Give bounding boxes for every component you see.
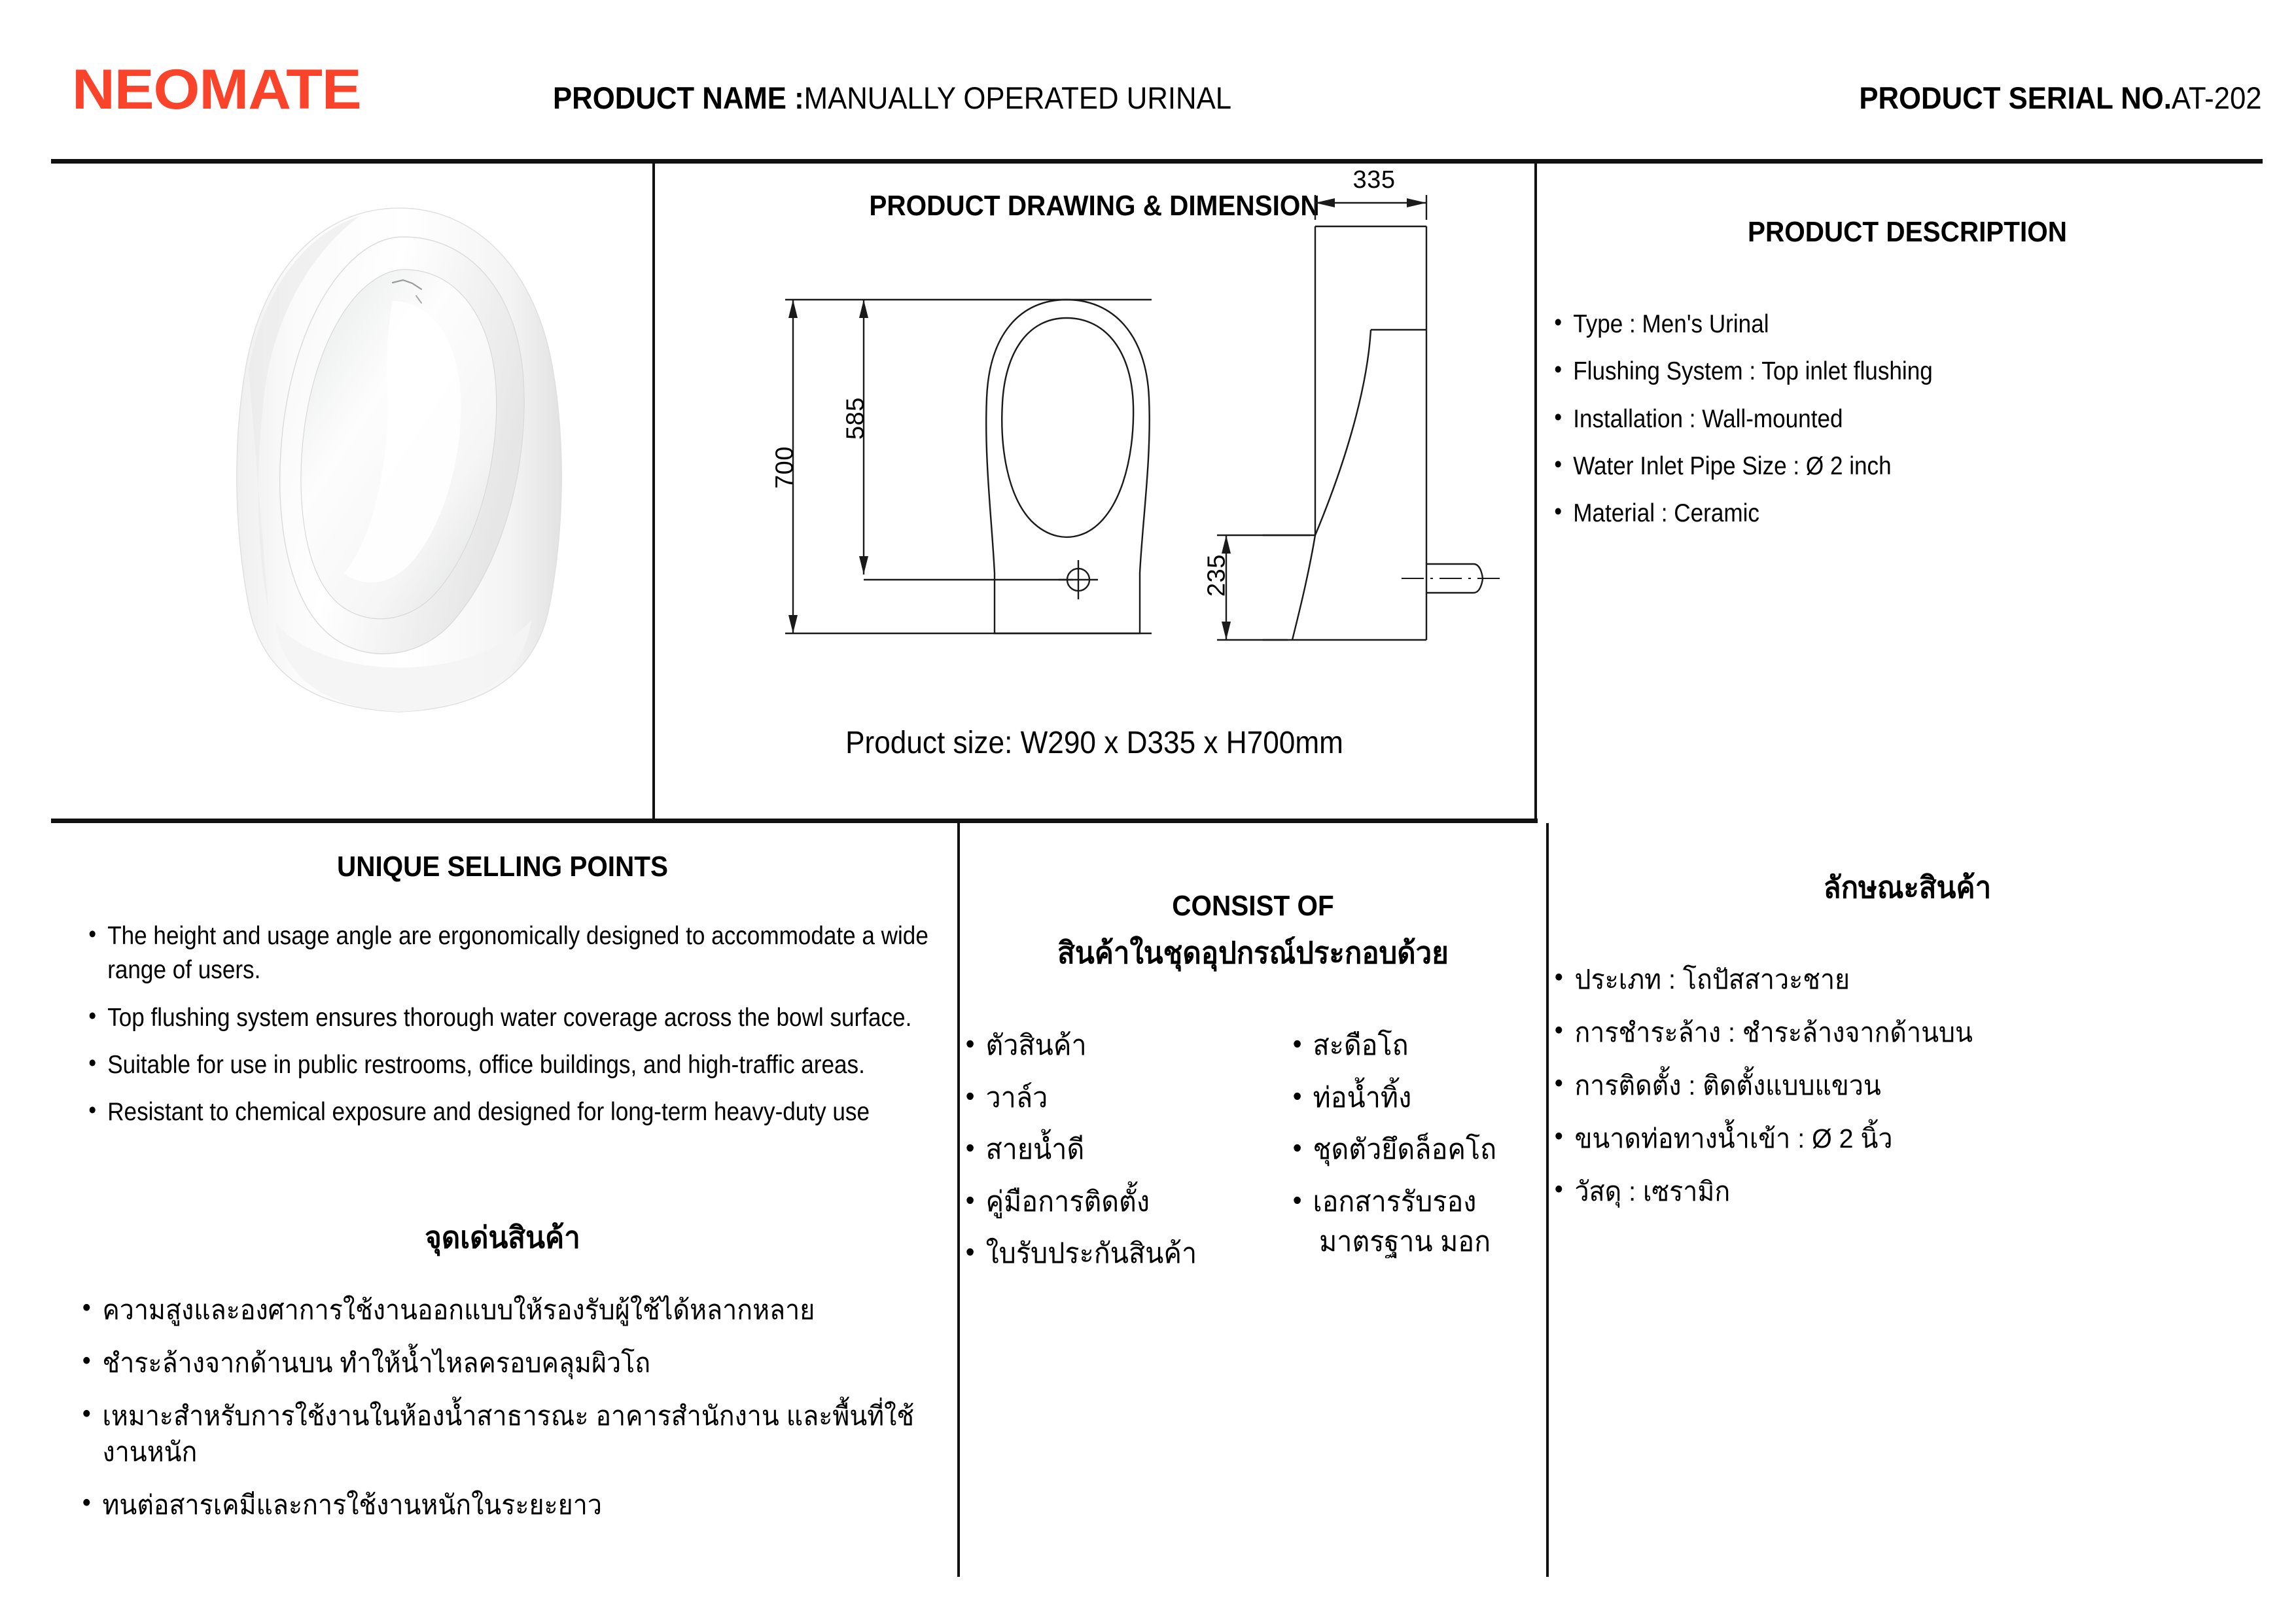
dimension-height-overall: 700 [771, 429, 800, 507]
technical-drawing: 700 585 335 235 [654, 169, 1534, 820]
list-item: เหมาะสำหรับการใช้งานในห้องน้ำสาธารณะ อาค… [79, 1398, 958, 1470]
dimension-depth: 335 [1338, 166, 1410, 194]
product-photo [196, 196, 602, 726]
list-item: ความสูงและองศาการใช้งานออกแบบให้รองรับผู… [79, 1292, 958, 1328]
list-item: Flushing System : Top inlet flushing [1551, 355, 2193, 389]
list-item: คู่มือการติดตั้ง [962, 1184, 1226, 1222]
consist-section-title-th: สินค้าในชุดอุปกรณ์ประกอบด้วย [976, 929, 1530, 977]
consist-section-title-en: CONSIST OF [985, 890, 1521, 923]
usp-section-title: UNIQUE SELLING POINTS [87, 851, 918, 883]
list-item: ชุดตัวยึดล็อคโถ [1289, 1131, 1553, 1169]
usp-list-wrap: The height and usage angle are ergonomic… [85, 919, 936, 1142]
list-item-continuation: มาตรฐาน มอก [1289, 1224, 1553, 1261]
consist-list-left: ตัวสินค้า วาล์ว สายน้ำดี คู่มือการติดตั้… [962, 1027, 1226, 1273]
dimension-bottom: 235 [1203, 537, 1231, 615]
consist-list-right: สะดือโถ ท่อน้ำทิ้ง ชุดตัวยึดล็อคโถ เอกสา… [1289, 1027, 1553, 1261]
usp-list: The height and usage angle are ergonomic… [85, 919, 933, 1129]
description-list: Type : Men's Urinal Flushing System : To… [1551, 308, 2193, 531]
product-serial-value: AT-202 [2172, 80, 2262, 115]
list-item: วาล์ว [962, 1080, 1226, 1118]
list-item: ประเภท : โถปัสสาวะชาย [1551, 962, 2261, 998]
list-item: Top flushing system ensures thorough wat… [85, 1001, 933, 1035]
list-item: Material : Ceramic [1551, 497, 2193, 531]
list-item: ขนาดท่อทางน้ำเข้า : Ø 2 นิ้ว [1551, 1121, 2261, 1157]
list-item: วัสดุ : เซรามิก [1551, 1174, 2261, 1210]
list-item: ท่อน้ำทิ้ง [1289, 1080, 1553, 1118]
consist-list-wrap: ตัวสินค้า วาล์ว สายน้ำดี คู่มือการติดตั้… [962, 1027, 1544, 1288]
usp-th-list: ความสูงและองศาการใช้งานออกแบบให้รองรับผู… [79, 1292, 958, 1523]
description-th-section-title: ลักษณะสินค้า [1568, 864, 2246, 911]
product-datasheet: NEOMATE PRODUCT NAME :MANUALLY OPERATED … [0, 0, 2296, 1622]
product-name-label: PRODUCT NAME : [553, 80, 804, 115]
list-item: สะดือโถ [1289, 1027, 1553, 1065]
list-item: ใบรับประกันสินค้า [962, 1235, 1226, 1273]
usp-th-list-wrap: ความสูงและองศาการใช้งานออกแบบให้รองรับผู… [79, 1292, 955, 1540]
description-th-list-wrap: ประเภท : โถปัสสาวะชาย การชำระล้าง : ชำระ… [1551, 962, 2264, 1227]
list-item: The height and usage angle are ergonomic… [85, 919, 933, 988]
brand-logo: NEOMATE [72, 58, 361, 122]
list-item: Suitable for use in public restrooms, of… [85, 1048, 933, 1082]
dimension-height-drain: 585 [842, 379, 870, 458]
product-size-text: Product size: W290 x D335 x H700mm [690, 725, 1499, 761]
list-item: ชำระล้างจากด้านบน ทำให้น้ำไหลครอบคลุมผิว… [79, 1345, 958, 1381]
description-list-wrap: Type : Men's Urinal Flushing System : To… [1551, 308, 2264, 544]
list-item: ทนต่อสารเคมีและการใช้งานหนักในระยะยาว [79, 1487, 958, 1523]
list-item: สายน้ำดี [962, 1131, 1226, 1169]
list-item: เอกสารรับรอง [1289, 1184, 1553, 1222]
list-item: Type : Men's Urinal [1551, 308, 2193, 342]
list-item: Water Inlet Pipe Size : Ø 2 inch [1551, 450, 2193, 484]
drawing-description-divider [1534, 162, 1537, 821]
description-th-list: ประเภท : โถปัสสาวะชาย การชำระล้าง : ชำระ… [1551, 962, 2261, 1210]
product-serial-label: PRODUCT SERIAL NO. [1860, 80, 2172, 115]
list-item: Installation : Wall-mounted [1551, 402, 2193, 436]
header-divider [51, 159, 2263, 164]
usp-th-section-title: จุดเด่นสินค้า [74, 1214, 932, 1261]
list-item: Resistant to chemical exposure and desig… [85, 1095, 933, 1129]
description-section-title: PRODUCT DESCRIPTION [1580, 216, 2236, 249]
list-item: การติดตั้ง : ติดตั้งแบบแขวน [1551, 1068, 2261, 1104]
list-item: การชำระล้าง : ชำระล้างจากด้านบน [1551, 1015, 2261, 1051]
product-name: PRODUCT NAME :MANUALLY OPERATED URINAL [553, 80, 1231, 116]
product-name-value: MANUALLY OPERATED URINAL [804, 80, 1231, 115]
list-item: ตัวสินค้า [962, 1027, 1226, 1065]
product-serial: PRODUCT SERIAL NO.AT-202 [1860, 80, 2262, 116]
